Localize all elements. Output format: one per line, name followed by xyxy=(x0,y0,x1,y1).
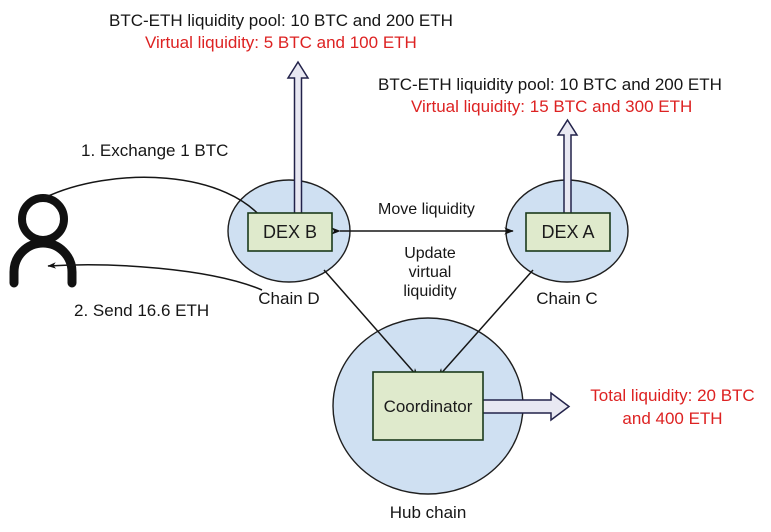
pool-b-virtual-liquidity-line: Virtual liquidity: 5 BTC and 100 ETH xyxy=(145,33,417,54)
pool-b-annotation-line1: BTC-ETH liquidity pool: 10 BTC and 200 E… xyxy=(109,11,453,32)
chain-c-label: Chain C xyxy=(507,289,627,309)
total-liquidity-line2: and 400 ETH xyxy=(580,409,765,430)
pool-a-virtual-liquidity-line: Virtual liquidity: 15 BTC and 300 ETH xyxy=(411,97,692,118)
update-virtual-liquidity-label: Update virtual liquidity xyxy=(388,245,472,302)
step-1-label: 1. Exchange 1 BTC xyxy=(81,141,228,162)
dex-a-box-label: DEX A xyxy=(526,223,610,241)
send-eth-arrow xyxy=(48,265,262,290)
diagram-canvas: BTC-ETH liquidity pool: 10 BTC and 200 E… xyxy=(0,0,771,532)
update-virtual-liquidity-line3: liquidity xyxy=(388,283,472,302)
hub-chain-label: Hub chain xyxy=(368,503,488,523)
move-liquidity-label: Move liquidity xyxy=(378,200,475,220)
chain-d-label: Chain D xyxy=(229,289,349,309)
update-virtual-liquidity-line2: virtual xyxy=(388,264,472,283)
step-2-label: 2. Send 16.6 ETH xyxy=(74,301,209,322)
dex-b-box-label: DEX B xyxy=(248,223,332,241)
total-liquidity-line1: Total liquidity: 20 BTC xyxy=(580,386,765,407)
user-stick-figure xyxy=(14,198,72,283)
coordinator-box-label: Coordinator xyxy=(373,398,483,415)
update-virtual-liquidity-line1: Update xyxy=(388,245,472,264)
pool-a-annotation-line1: BTC-ETH liquidity pool: 10 BTC and 200 E… xyxy=(378,75,722,96)
